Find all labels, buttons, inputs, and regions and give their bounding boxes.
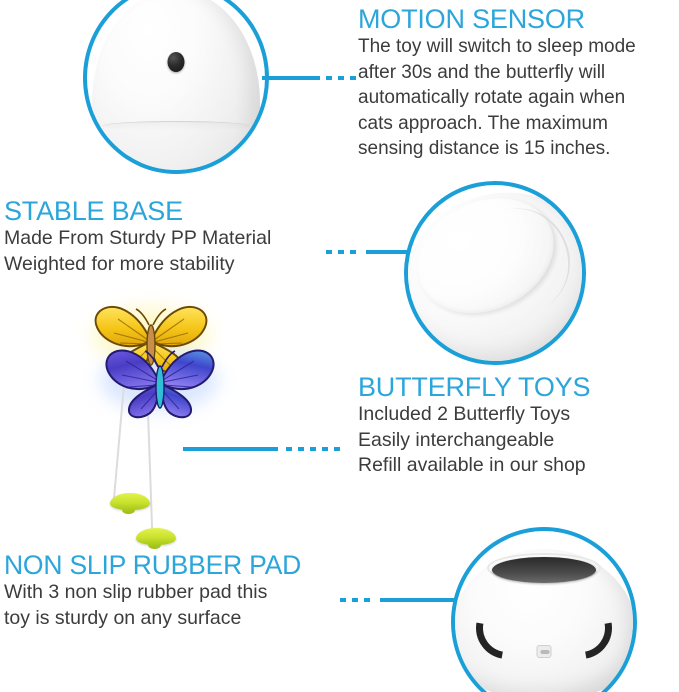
body-line: Refill available in our shop xyxy=(358,453,590,479)
butterfly-toys-image xyxy=(84,303,234,543)
feature-block-stable-base: STABLE BASE Made From Sturdy PP Material… xyxy=(4,196,271,277)
feature-block-motion-sensor: MOTION SENSOR The toy will switch to sle… xyxy=(358,4,636,162)
callout-circle-non-slip-rubber-pad xyxy=(451,527,637,692)
body-line: after 30s and the butterfly will xyxy=(358,60,636,86)
body-motion-sensor: The toy will switch to sleep mode after … xyxy=(358,34,636,162)
callout-circle-motion-sensor xyxy=(83,0,269,174)
product-base-image xyxy=(404,181,586,365)
body-line: With 3 non slip rubber pad this xyxy=(4,580,301,606)
body-line: The toy will switch to sleep mode xyxy=(358,34,636,60)
body-line: automatically rotate again when xyxy=(358,85,636,111)
rubber-pad xyxy=(464,585,550,671)
motion-sensor-dot-icon xyxy=(168,52,185,72)
body-line: cats approach. The maximum xyxy=(358,111,636,137)
heading-stable-base: STABLE BASE xyxy=(4,196,271,226)
body-line: Included 2 Butterfly Toys xyxy=(358,402,590,428)
rubber-pad xyxy=(538,585,624,671)
heading-non-slip-rubber-pad: NON SLIP RUBBER PAD xyxy=(4,550,301,580)
product-underside-rim xyxy=(492,557,596,583)
body-line: toy is sturdy on any surface xyxy=(4,606,301,632)
body-line: Easily interchangeable xyxy=(358,428,590,454)
callout-circle-stable-base xyxy=(404,181,586,365)
product-underside-image xyxy=(452,549,636,692)
feature-block-butterfly-toys: BUTTERFLY TOYS Included 2 Butterfly Toys… xyxy=(358,372,590,479)
feature-infographic: MOTION SENSOR The toy will switch to sle… xyxy=(0,0,679,692)
connector-non-slip-rubber-pad xyxy=(340,598,460,602)
attachment-disc xyxy=(110,493,150,510)
feature-block-non-slip-rubber-pad: NON SLIP RUBBER PAD With 3 non slip rubb… xyxy=(4,550,301,631)
heading-motion-sensor: MOTION SENSOR xyxy=(358,4,636,34)
attachment-disc xyxy=(136,528,176,545)
product-seam-line xyxy=(102,121,250,131)
body-line: Weighted for more stability xyxy=(4,252,271,278)
blue-butterfly-icon xyxy=(98,343,222,421)
connector-butterfly-toys xyxy=(183,447,343,451)
body-line: sensing distance is 15 inches. xyxy=(358,136,636,162)
body-non-slip-rubber-pad: With 3 non slip rubber pad this toy is s… xyxy=(4,580,301,631)
body-line: Made From Sturdy PP Material xyxy=(4,226,271,252)
product-top-view-image xyxy=(92,0,260,174)
heading-butterfly-toys: BUTTERFLY TOYS xyxy=(358,372,590,402)
body-butterfly-toys: Included 2 Butterfly Toys Easily interch… xyxy=(358,402,590,479)
body-stable-base: Made From Sturdy PP Material Weighted fo… xyxy=(4,226,271,277)
screw-icon xyxy=(537,645,552,658)
connector-motion-sensor xyxy=(262,76,358,80)
